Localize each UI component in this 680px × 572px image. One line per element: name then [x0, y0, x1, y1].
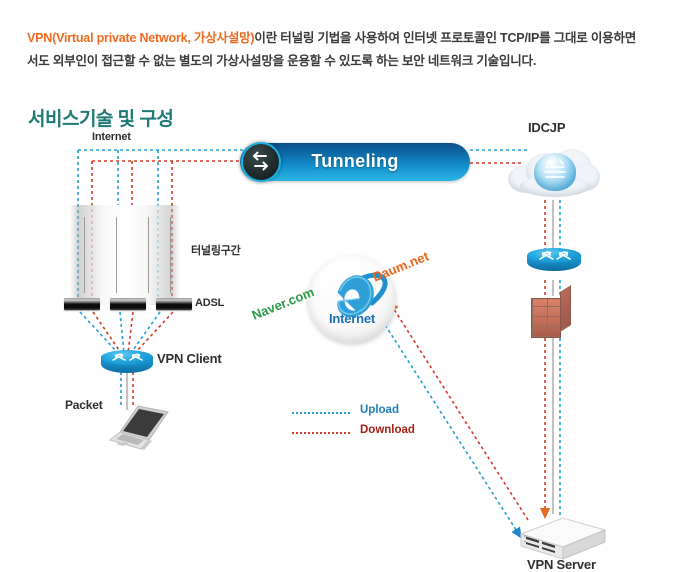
client-fan-download-1 [93, 312, 121, 353]
tunneling-bar[interactable]: Tunneling [240, 143, 470, 181]
tunnel-zone-line [84, 217, 85, 293]
router-arrows-icon [101, 350, 153, 365]
tunnel-zone-line [116, 217, 117, 293]
tunnel-zone-line [148, 217, 149, 293]
label-idcjp: IDCJP [528, 120, 565, 135]
adsl-modem-icon [156, 298, 192, 310]
label-vpn-server: VPN Server [527, 557, 596, 572]
client-fan-download-3 [135, 312, 173, 353]
intro-paragraph: VPN(Virtual private Network, 가상사설망)이란 터널… [27, 27, 637, 73]
legend-dash-upload [292, 412, 350, 414]
legend-dash-download [292, 432, 350, 434]
client-fan-upload-1 [80, 312, 118, 353]
tunnel-zone-line [170, 217, 171, 293]
client-fan-upload-3 [131, 312, 160, 353]
client-fan-download-2 [128, 312, 133, 353]
legend-label-upload: Upload [360, 404, 399, 416]
adsl-modem-icon [64, 298, 100, 310]
label-packet: Packet [65, 398, 103, 412]
router-icon-core [527, 248, 581, 280]
firewall-side [560, 285, 571, 332]
tunneling-label: Tunneling [240, 151, 470, 172]
vpn-diagram-page: VPN(Virtual private Network, 가상사설망)이란 터널… [0, 0, 680, 474]
server-to-internet-download [390, 303, 528, 520]
label-internet-link: Internet [92, 131, 131, 143]
label-adsl: ADSL [195, 297, 224, 309]
brick-firewall-icon [531, 292, 571, 338]
router-icon-vpn-client [101, 350, 153, 380]
cloud-core-sphere [534, 153, 576, 191]
client-fan-upload-2 [120, 312, 124, 353]
router-arrows-icon [527, 248, 581, 263]
firewall-face [531, 298, 561, 338]
tunnel-zone-box [70, 205, 180, 305]
legend-label-download: Download [360, 424, 415, 436]
internet-globe-label: Internet [308, 311, 396, 326]
label-tunnel-zone: 터널링구간 [191, 242, 241, 258]
server-box-icon [519, 514, 607, 560]
intro-highlight: VPN(Virtual private Network, 가상사설망) [27, 31, 254, 45]
cloud-icon-idcjp [508, 145, 600, 201]
laptop-icon [102, 398, 176, 454]
label-vpn-client: VPN Client [157, 351, 221, 366]
network-diagram: Tunneling [0, 120, 680, 474]
adsl-modem-icon [110, 298, 146, 310]
